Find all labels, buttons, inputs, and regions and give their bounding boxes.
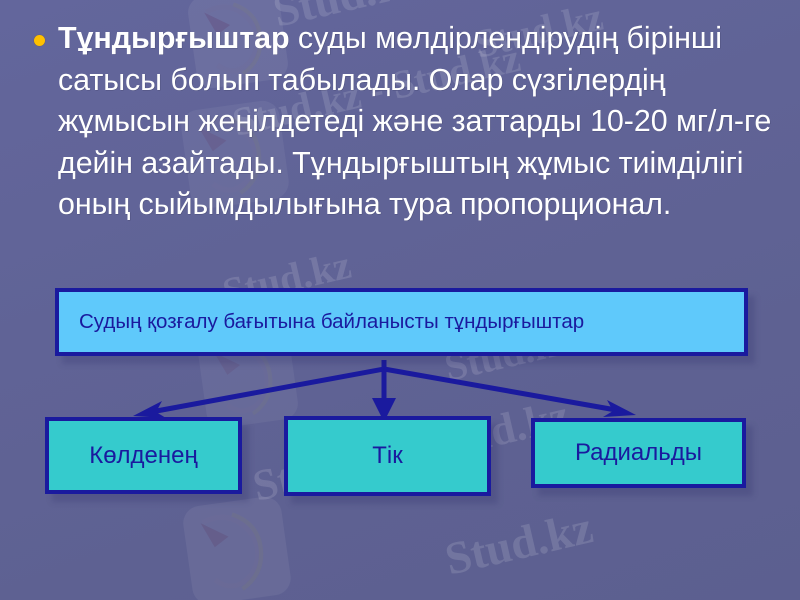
watermark-logo-bottom	[172, 486, 302, 600]
body-paragraph-lead: Тұндырғыштар	[58, 21, 290, 55]
connector-to-radial	[384, 369, 636, 417]
body-paragraph-text: Тұндырғыштар суды мөлдірлендірудің бірін…	[58, 18, 782, 226]
connector-to-vertical	[372, 369, 396, 422]
diagram-node-top-label: Судың қозғалу бағытына байланысты тұндыр…	[79, 310, 584, 334]
presentation-slide: Stud.kz Stud.kz Stud.kz - Stud.kz Stud.k…	[0, 0, 800, 600]
connector-to-horizontal	[133, 369, 384, 418]
bullet-paragraph: Тұндырғыштар суды мөлдірлендірудің бірін…	[34, 18, 782, 226]
diagram-node-vertical-label: Тік	[372, 442, 403, 470]
watermark-brand-bottom: Stud.kz	[440, 500, 598, 585]
diagram-node-radial-label: Радиальды	[575, 439, 702, 467]
diagram-node-radial[interactable]: Радиальды	[531, 418, 746, 488]
bullet-dot-icon	[34, 35, 45, 46]
diagram-node-horizontal-label: Көлденең	[89, 442, 198, 470]
diagram-node-vertical[interactable]: Тік	[284, 416, 491, 496]
diagram-node-top[interactable]: Судың қозғалу бағытына байланысты тұндыр…	[55, 288, 748, 356]
diagram-node-horizontal[interactable]: Көлденең	[45, 417, 242, 494]
